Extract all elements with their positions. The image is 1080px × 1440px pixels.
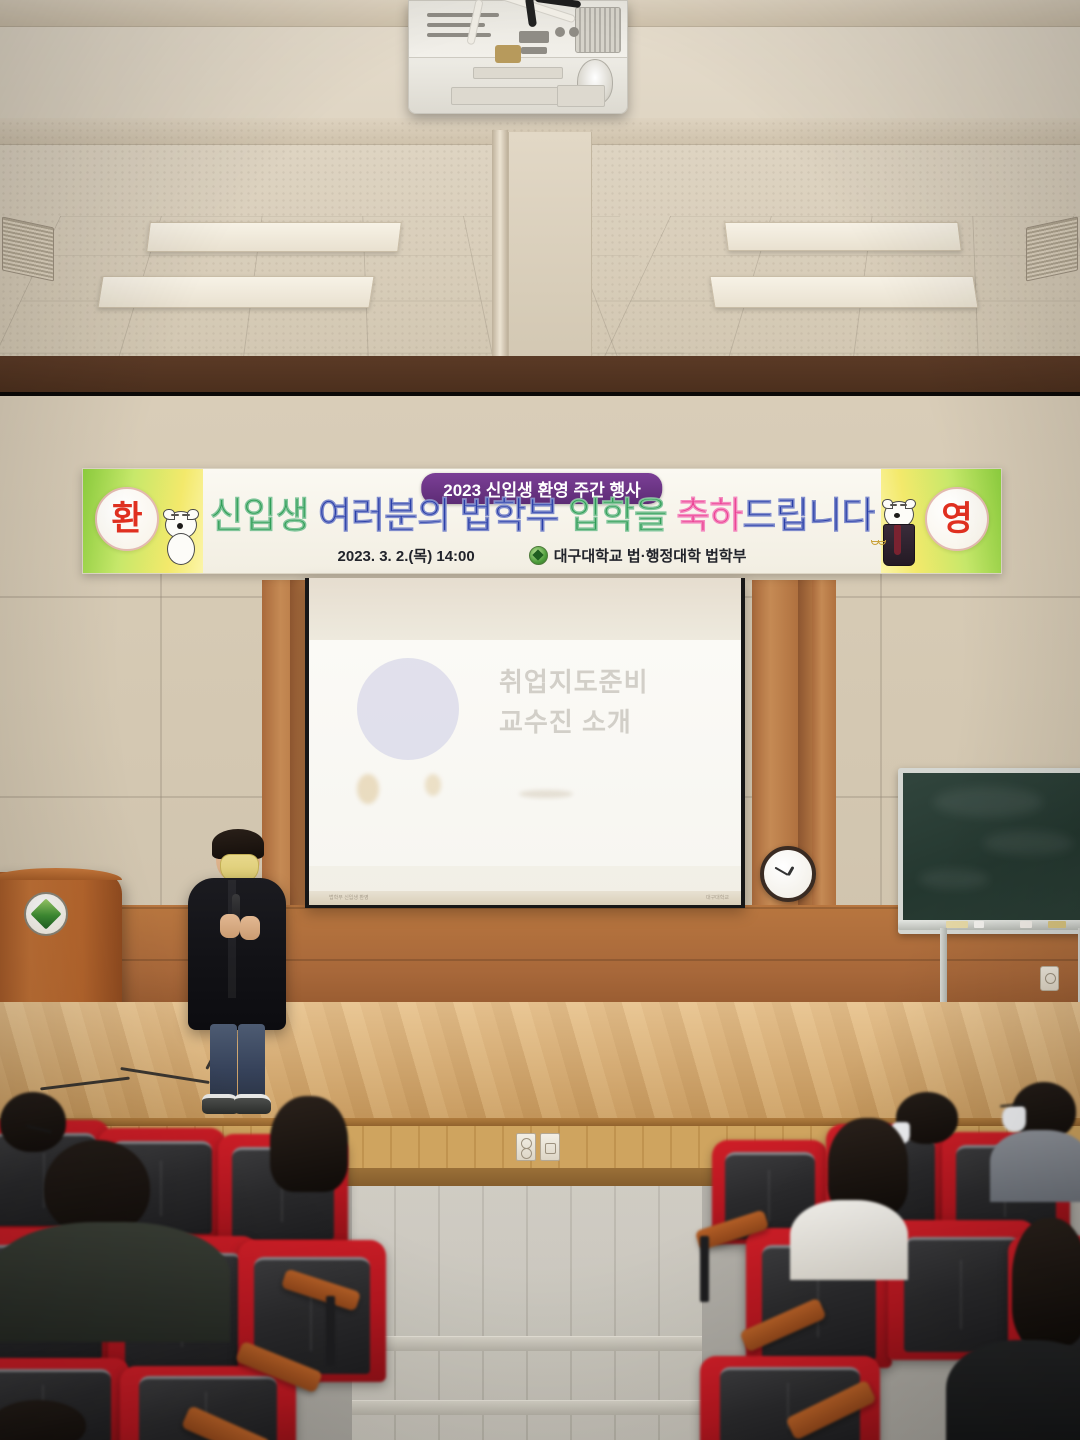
audience-head: [0, 1092, 66, 1152]
slide-text-block: 취업지도준비 교수진 소개: [499, 662, 649, 743]
ceiling-projector: [408, 0, 628, 114]
seat-arm-post: [326, 1296, 335, 1366]
audience-face-mask: [1002, 1106, 1026, 1132]
wall-clock: [760, 846, 816, 902]
stage-front-outlet: [516, 1133, 536, 1161]
chalk-box: [1048, 921, 1066, 928]
presenter-shoe-right: [234, 1094, 271, 1114]
ceiling-light-panel: [724, 222, 962, 251]
banner-headline-part-5: 드립니다: [742, 495, 874, 536]
slide-circle-graphic: [357, 658, 459, 760]
ceiling-light-panel: [146, 222, 402, 252]
slide-line-1: 취업지도준비: [499, 662, 649, 702]
ceiling-vent: [2, 216, 54, 281]
banner-headline-part-2: 여러분의 법학부: [309, 495, 559, 536]
wall-outlet: [1040, 966, 1059, 991]
banner-headline-part-1: 신입생: [210, 495, 309, 536]
ceiling-light-panel: [97, 276, 374, 308]
banner-headline-part-4: 축하: [667, 495, 742, 536]
university-logo-icon: [529, 546, 548, 565]
center-aisle: [352, 1186, 702, 1440]
chalkboard: [898, 768, 1080, 934]
audience-head: [270, 1096, 348, 1192]
ceiling-soffit: [0, 356, 1080, 396]
stage-front-switch: [540, 1133, 560, 1161]
screen-note-right: 대구대학교: [706, 895, 729, 902]
presenter-leg-left: [210, 1024, 237, 1102]
university-emblem-icon: [24, 892, 68, 936]
banner-headline-part-3: 입학을: [559, 495, 667, 536]
audience-shoulders: [990, 1130, 1080, 1202]
banner-organization: 대구대학교 법·행정대학 법학부: [554, 545, 747, 566]
banner-datetime: 2023. 3. 2.(목) 14:00: [338, 545, 475, 566]
projection-screen: 취업지도준비 교수진 소개 법학부 신입생 환영 대구대학교: [305, 578, 745, 908]
banner-headline: 신입생 여러분의 법학부 입학을 축하드립니다: [83, 497, 1001, 534]
ceiling: [0, 0, 1080, 362]
eraser: [946, 921, 968, 928]
presenter-hand-left: [220, 914, 240, 938]
banner-subline: 2023. 3. 2.(목) 14:00 대구대학교 법·행정대학 법학부: [83, 545, 1001, 566]
seat-arm-post: [700, 1236, 709, 1302]
projector-grille: [575, 7, 621, 53]
presenter-hand-right: [240, 916, 260, 940]
wall-pillar-far-right: [812, 580, 836, 910]
welcome-banner: 환 영 2023 신입생 환영 주간 행사: [82, 468, 1002, 574]
slide-line-2: 교수진 소개: [499, 702, 649, 742]
ceiling-vent: [1026, 216, 1078, 281]
screen-note-left: 법학부 신입생 환영: [329, 895, 369, 902]
presenter-leg-right: [238, 1024, 265, 1102]
audience-shoulders: [946, 1340, 1080, 1440]
chalk-stick: [1020, 921, 1032, 928]
ceiling-light-panel: [709, 276, 978, 308]
audience-head: [1012, 1218, 1080, 1346]
audience-shoulders: [0, 1222, 230, 1342]
presenter-speaker: [182, 832, 290, 1104]
chalk-stick: [974, 921, 984, 928]
banner-organization-mark: 대구대학교 법·행정대학 법학부: [529, 545, 747, 566]
auditorium-photo: 환 영 2023 신입생 환영 주간 행사: [0, 0, 1080, 1440]
audience-shoulders: [790, 1200, 908, 1280]
